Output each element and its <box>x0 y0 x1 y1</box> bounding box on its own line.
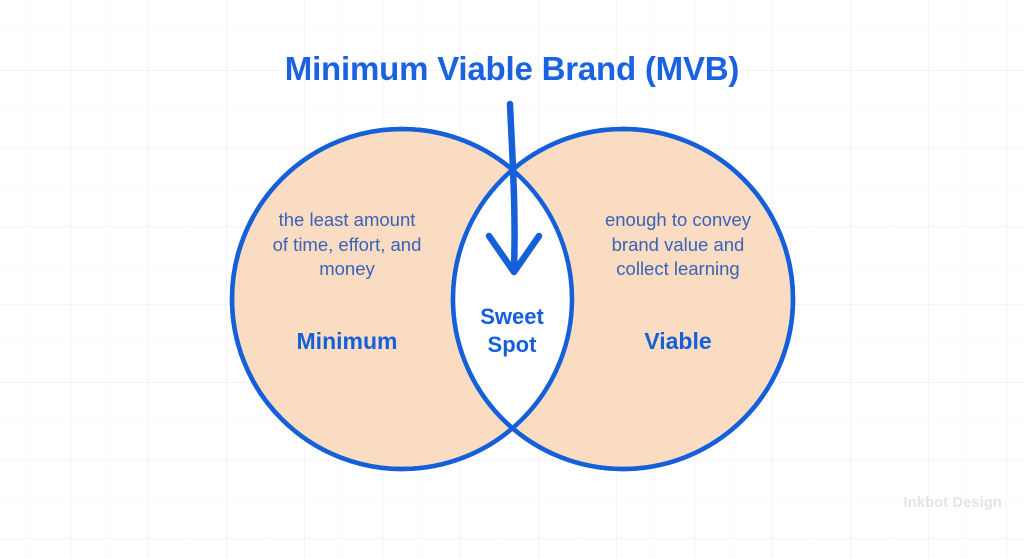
left-circle-description: the least amount of time, effort, and mo… <box>232 208 462 282</box>
left-circle-label: Minimum <box>247 326 447 357</box>
venn-diagram <box>0 0 1024 559</box>
overlap-label: Sweet Spot <box>452 303 572 359</box>
right-circle-label: Viable <box>578 326 778 357</box>
watermark: Inkbot Design <box>904 495 1002 511</box>
diagram-canvas: Minimum Viable Brand (MVB) the least amo… <box>0 0 1024 559</box>
right-circle-description: enough to convey brand value and collect… <box>563 208 793 282</box>
